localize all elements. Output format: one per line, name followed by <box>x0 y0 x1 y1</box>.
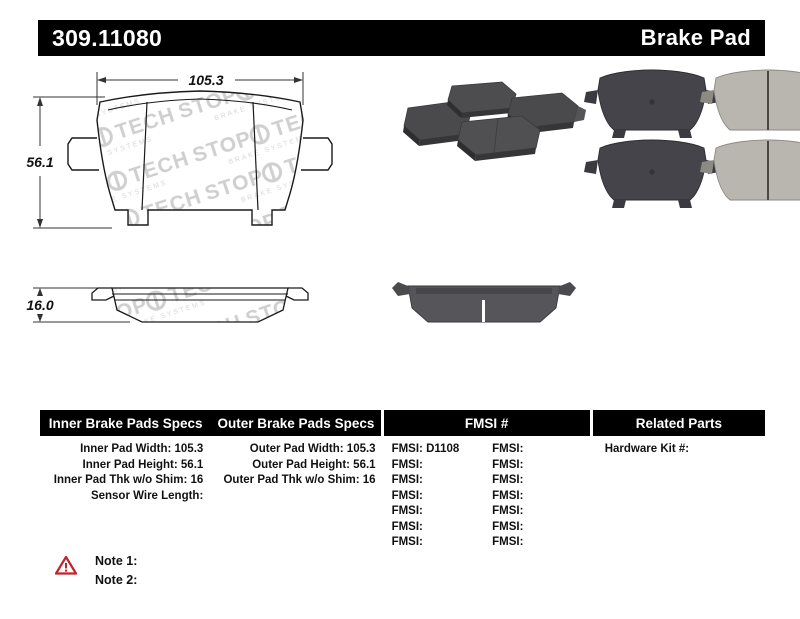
fmsi-row: FMSI: <box>392 520 489 536</box>
pad-photo-edge-view <box>392 282 576 322</box>
notes-text-group: Note 1: Note 2: <box>95 552 137 590</box>
page-title: Brake Pad <box>641 27 751 49</box>
table-header-related-parts: Related Parts <box>593 410 765 436</box>
spec-row: Sensor Wire Length: <box>40 489 211 505</box>
drawing-area: STOP TECH BRAKE SYSTEMS STOP TECH BRAKE … <box>0 60 800 390</box>
related-parts-row: Hardware Kit #: <box>593 442 765 458</box>
pad-grid-top-left <box>584 70 720 138</box>
part-number: 309.11080 <box>52 27 162 50</box>
table-header-inner-specs: Inner Brake Pads Specs <box>40 410 211 436</box>
pad-photo-grid-group <box>584 70 800 208</box>
thickness-dimension-label: 16.0 <box>26 297 53 313</box>
spec-table: Inner Brake Pads Specs Outer Brake Pads … <box>40 410 765 551</box>
header-bar: 309.11080 Brake Pad <box>38 20 765 56</box>
fmsi-row: FMSI: <box>392 473 489 489</box>
spec-row: Inner Pad Width: 105.3 <box>40 442 211 458</box>
table-header-outer-specs: Outer Brake Pads Specs <box>211 410 380 436</box>
fmsi-row: FMSI: <box>392 504 489 520</box>
width-dimension-label: 105.3 <box>188 72 223 88</box>
table-header-row: Inner Brake Pads Specs Outer Brake Pads … <box>40 410 765 436</box>
fmsi-row: FMSI: <box>492 535 593 551</box>
pad-front-view-drawing: 105.3 56.1 <box>26 72 332 245</box>
height-dimension-label: 56.1 <box>26 154 53 170</box>
pad-grid-bottom-left <box>584 140 720 208</box>
fmsi-row: FMSI: <box>492 442 593 458</box>
pad-photo-angled-group <box>403 82 586 161</box>
pad-photo-4 <box>457 116 540 161</box>
fmsi-row: FMSI: <box>392 535 489 551</box>
spec-row: Outer Pad Height: 56.1 <box>211 458 383 474</box>
fmsi-column: FMSI: D1108 FMSI: FMSI: FMSI: FMSI: FMSI… <box>384 442 593 551</box>
inner-specs-column: Inner Pad Width: 105.3 Inner Pad Height:… <box>40 442 211 551</box>
fmsi-row: FMSI: <box>492 458 593 474</box>
fmsi-row: FMSI: <box>392 458 489 474</box>
fmsi-row: FMSI: <box>492 520 593 536</box>
table-header-fmsi: FMSI # <box>384 410 590 436</box>
fmsi-subcolumn-left: FMSI: D1108 FMSI: FMSI: FMSI: FMSI: FMSI… <box>384 442 489 551</box>
fmsi-row: FMSI: <box>392 489 489 505</box>
fmsi-row: FMSI: <box>492 504 593 520</box>
note-line-1: Note 1: <box>95 552 137 571</box>
spec-row: Inner Pad Height: 56.1 <box>40 458 211 474</box>
fmsi-row: FMSI: <box>492 489 593 505</box>
note-line-2: Note 2: <box>95 571 137 590</box>
pad-outline <box>68 80 332 245</box>
fmsi-row: FMSI: <box>492 473 593 489</box>
pad-photo-2 <box>447 82 516 118</box>
pad-side-view-drawing: 16.0 <box>26 280 308 330</box>
table-body: Inner Pad Width: 105.3 Inner Pad Height:… <box>40 442 765 551</box>
fmsi-row: FMSI: D1108 <box>392 442 489 458</box>
notes-section: Note 1: Note 2: <box>55 552 137 590</box>
warning-triangle-icon <box>55 556 77 580</box>
related-parts-column: Hardware Kit #: <box>593 442 765 551</box>
spec-row: Outer Pad Width: 105.3 <box>211 442 383 458</box>
outer-specs-column: Outer Pad Width: 105.3 Outer Pad Height:… <box>211 442 383 551</box>
fmsi-subcolumn-right: FMSI: FMSI: FMSI: FMSI: FMSI: FMSI: FMSI… <box>488 442 593 551</box>
spec-row: Inner Pad Thk w/o Shim: 16 <box>40 473 211 489</box>
spec-row: Outer Pad Thk w/o Shim: 16 <box>211 473 383 489</box>
